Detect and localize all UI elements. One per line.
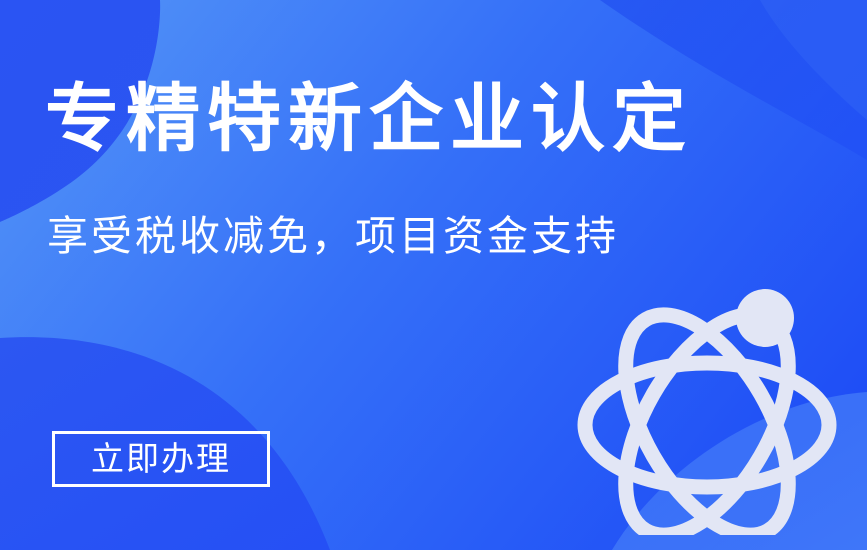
atom-nucleus-dot [736, 289, 794, 347]
atom-icon [575, 283, 843, 535]
promo-banner: 专精特新企业认定 享受税收减免，项目资金支持 立即办理 [0, 0, 867, 550]
page-subtitle: 享受税收减免，项目资金支持 [47, 216, 619, 257]
apply-now-button[interactable]: 立即办理 [52, 431, 270, 487]
page-title: 专精特新企业认定 [45, 82, 693, 156]
